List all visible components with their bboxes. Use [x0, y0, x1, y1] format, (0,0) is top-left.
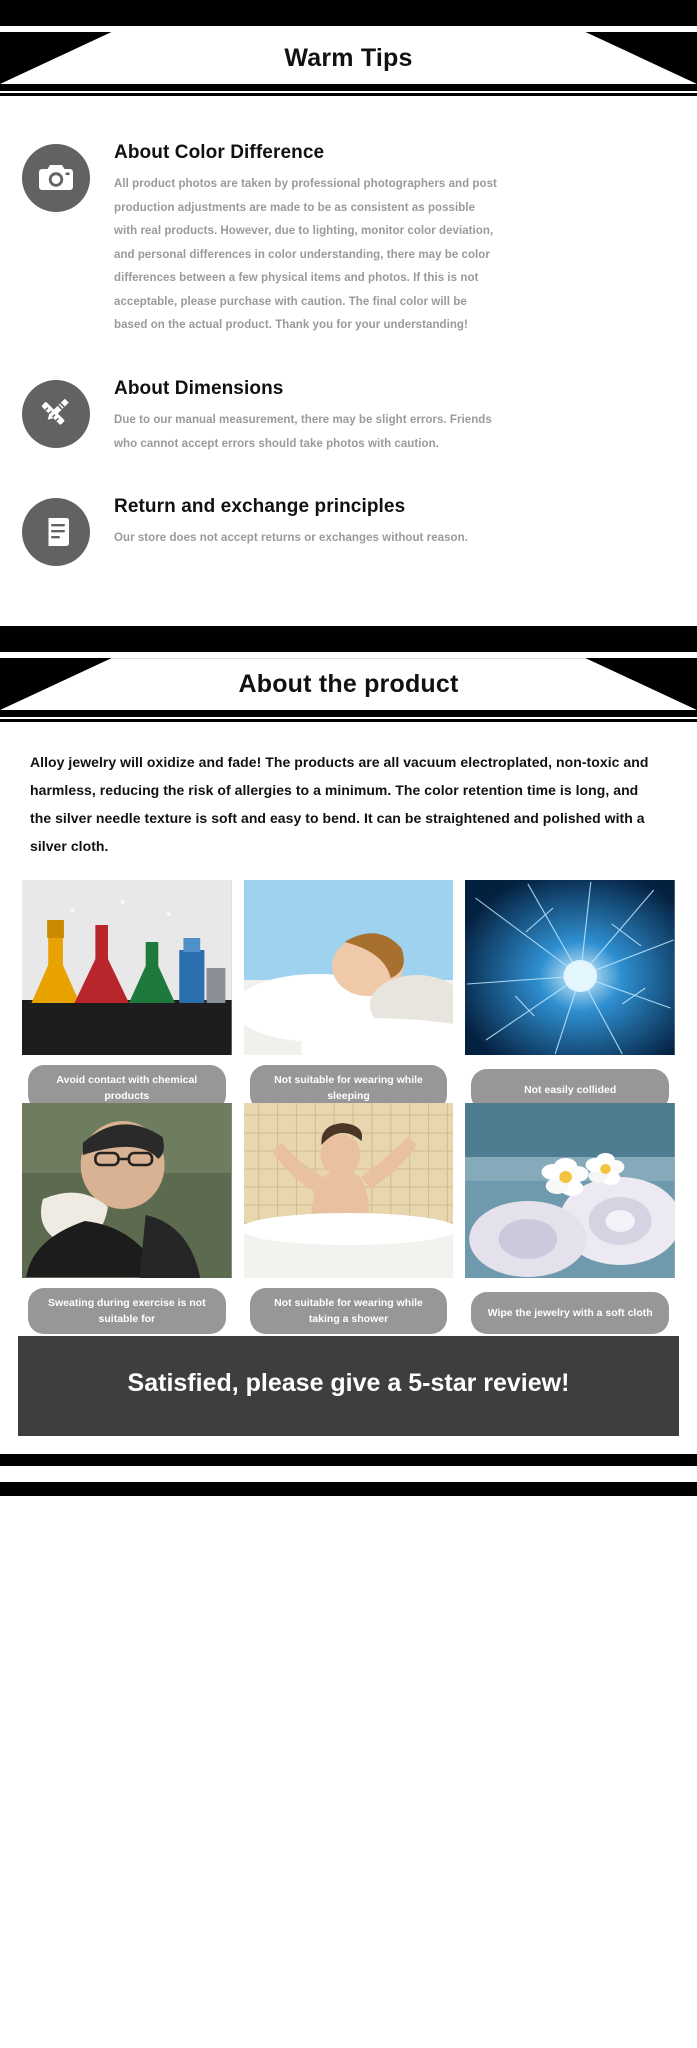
care-card: Avoid contact with chemical products — [22, 880, 232, 1085]
care-card: Sweating during exercise is not suitable… — [22, 1103, 232, 1308]
chemistry-flasks-photo — [22, 880, 232, 1055]
book-icon — [22, 498, 90, 566]
man-sweating-towel-photo — [22, 1103, 232, 1278]
tip-row-color-difference: About Color Difference All product photo… — [0, 140, 697, 338]
about-product-banner-plate: About the product — [0, 658, 697, 710]
towels-flower-photo — [465, 1103, 675, 1278]
care-instruction-grid: Avoid contact with chemical products Not… — [0, 880, 697, 1326]
warm-tips-section: About Color Difference All product photo… — [0, 96, 697, 626]
tip-text: Due to our manual measurement, there may… — [114, 409, 499, 456]
warm-tips-banner: Warm Tips — [0, 0, 697, 96]
warm-tips-title: Warm Tips — [284, 44, 412, 73]
footer-bottom-strip — [0, 1482, 697, 1496]
camera-icon — [22, 144, 90, 212]
tip-heading: Return and exchange principles — [114, 496, 669, 518]
tip-row-dimensions: About Dimensions Due to our manual measu… — [0, 376, 697, 456]
ruler-pencil-icon — [22, 380, 90, 448]
banner-rule-thick — [0, 710, 697, 717]
about-product-banner: About the product — [0, 626, 697, 722]
woman-sleeping-photo — [244, 880, 454, 1055]
tip-body: Return and exchange principles Our store… — [114, 494, 669, 551]
warm-tips-banner-plate: Warm Tips — [0, 32, 697, 84]
care-caption: Sweating during exercise is not suitable… — [28, 1288, 226, 1335]
tip-heading: About Color Difference — [114, 142, 669, 164]
shattered-glass-photo — [465, 880, 675, 1055]
footer-black-strip — [0, 1454, 697, 1466]
tip-body: About Color Difference All product photo… — [114, 140, 669, 338]
care-caption: Wipe the jewelry with a soft cloth — [471, 1292, 669, 1334]
care-card: Not suitable for wearing while sleeping — [244, 880, 454, 1085]
banner-rule-thick — [0, 84, 697, 91]
footer-gap — [0, 1466, 697, 1482]
product-section: Alloy jewelry will oxidize and fade! The… — [0, 722, 697, 1326]
about-product-title: About the product — [238, 670, 458, 699]
tips-section-tail — [0, 604, 697, 626]
tip-heading: About Dimensions — [114, 378, 669, 400]
review-request-text: Satisfied, please give a 5-star review! — [48, 1362, 649, 1406]
product-description: Alloy jewelry will oxidize and fade! The… — [0, 722, 697, 880]
tip-text: Our store does not accept returns or exc… — [114, 527, 499, 551]
woman-shower-photo — [244, 1103, 454, 1278]
tip-text: All product photos are taken by professi… — [114, 173, 499, 338]
care-caption: Not suitable for wearing while taking a … — [250, 1288, 448, 1335]
banner-top-bar — [0, 0, 697, 26]
care-card: Not suitable for wearing while taking a … — [244, 1103, 454, 1308]
care-card: Wipe the jewelry with a soft cloth — [465, 1103, 675, 1308]
tip-body: About Dimensions Due to our manual measu… — [114, 376, 669, 456]
review-request-banner: Satisfied, please give a 5-star review! — [18, 1336, 679, 1436]
tip-row-return-exchange: Return and exchange principles Our store… — [0, 494, 697, 566]
care-card: Not easily collided — [465, 880, 675, 1085]
banner-top-bar — [0, 626, 697, 652]
